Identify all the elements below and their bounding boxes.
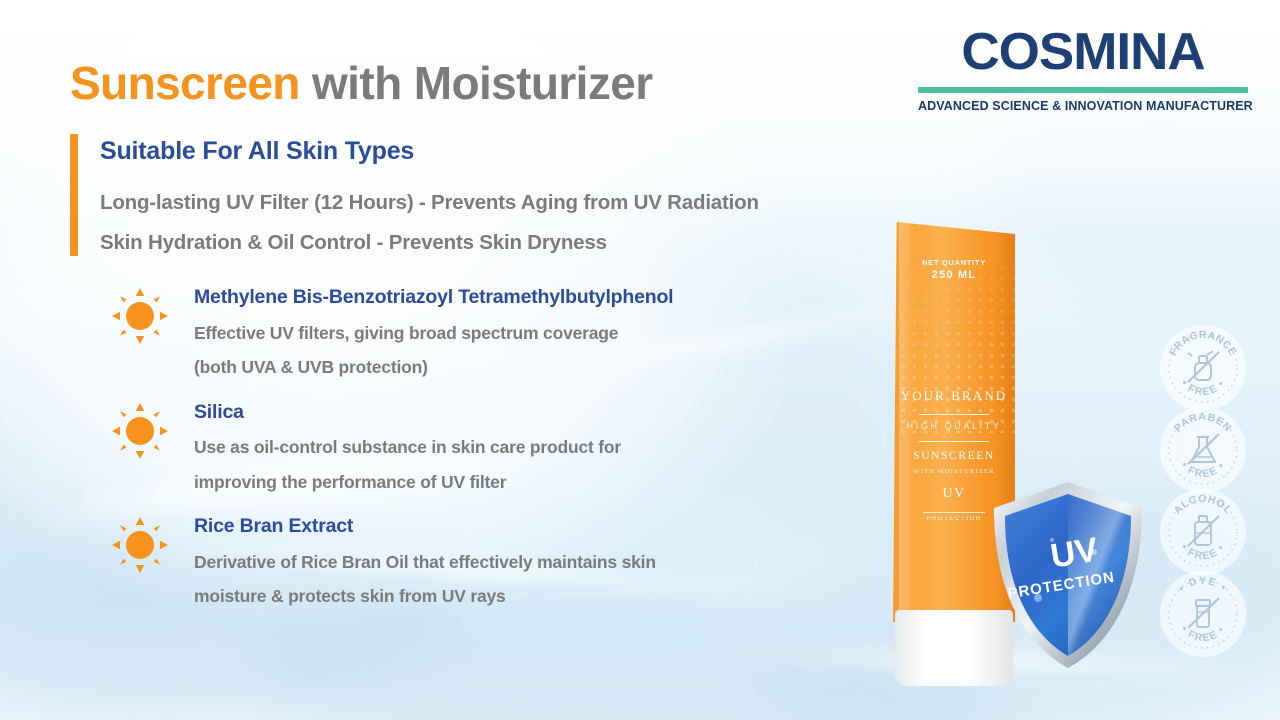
sun-icon	[112, 403, 168, 459]
tube-net-quantity-value: 250 ML	[893, 269, 1015, 281]
ingredient-name: Rice Bran Extract	[194, 517, 832, 537]
badge-dye-free: • DYE • • FREE •	[1160, 571, 1246, 657]
feature-subheading: Suitable For All Skin Types	[100, 134, 930, 164]
tube-product-name: SUNSCREEN	[893, 450, 1015, 462]
ingredient-item: Rice Bran Extract Derivative of Rice Bra…	[112, 517, 832, 606]
logo-divider	[918, 87, 1248, 93]
tube-divider	[919, 414, 989, 415]
ingredient-item: Silica Use as oil-control substance in s…	[112, 403, 832, 492]
feature-block: Suitable For All Skin Types Long-lasting…	[70, 134, 930, 255]
brand-logo: COSMINA ADVANCED SCIENCE & INNOVATION MA…	[918, 26, 1248, 113]
page-title-rest: with Moisturizer	[300, 57, 653, 109]
sun-icon	[112, 517, 168, 573]
badge-fragrance-free: FRAGRANCE • FREE •	[1160, 325, 1246, 411]
sun-icon	[112, 288, 168, 344]
page-title-highlight: Sunscreen	[70, 57, 300, 109]
ingredient-item: Methylene Bis-Benzotriazoyl Tetramethylb…	[112, 288, 832, 377]
ingredient-desc-line: (both UVA & UVB protection)	[194, 359, 832, 377]
ingredient-desc-line: Derivative of Rice Bran Oil that effecti…	[194, 554, 832, 572]
page-title: Sunscreen with Moisturizer	[70, 60, 653, 106]
logo-wordmark: COSMINA	[915, 26, 1252, 78]
ingredient-name: Silica	[194, 403, 832, 423]
logo-tagline: ADVANCED SCIENCE & INNOVATION MANUFACTUR…	[918, 99, 1248, 113]
tube-quality-label: HIGH QUALITY	[893, 421, 1015, 431]
tube-brand-name: YOUR BRAND	[893, 388, 1015, 404]
feature-line: Long-lasting UV Filter (12 Hours) - Prev…	[100, 191, 930, 215]
uv-protection-shield: UV PROTECTION	[988, 478, 1148, 673]
ingredient-desc-line: Effective UV filters, giving broad spect…	[194, 325, 832, 343]
feature-line: Skin Hydration & Oil Control - Prevents …	[100, 231, 930, 255]
free-from-badges: FRAGRANCE • FREE • PARABEN • FREE •	[1160, 325, 1260, 653]
accent-bar	[70, 134, 78, 256]
ingredient-desc-line: Use as oil-control substance in skin car…	[194, 439, 832, 457]
shield-title-text: UV	[1048, 531, 1101, 576]
tube-product-sub: WITH MOISTURIZER	[893, 468, 1015, 475]
badge-alcohol-free: ALCOHOL • FREE •	[1160, 489, 1246, 575]
ingredient-desc-line: moisture & protects skin from UV rays	[194, 588, 832, 606]
badge-paraben-free: PARABEN • FREE •	[1160, 407, 1246, 493]
ingredient-desc-line: improving the performance of UV filter	[194, 474, 832, 492]
ingredient-name: Methylene Bis-Benzotriazoyl Tetramethylb…	[194, 288, 832, 308]
ingredient-list: Methylene Bis-Benzotriazoyl Tetramethylb…	[112, 288, 832, 606]
tube-divider	[923, 512, 985, 513]
tube-net-quantity-label: NET QUANTITY	[893, 258, 1015, 267]
tube-divider	[919, 441, 989, 442]
